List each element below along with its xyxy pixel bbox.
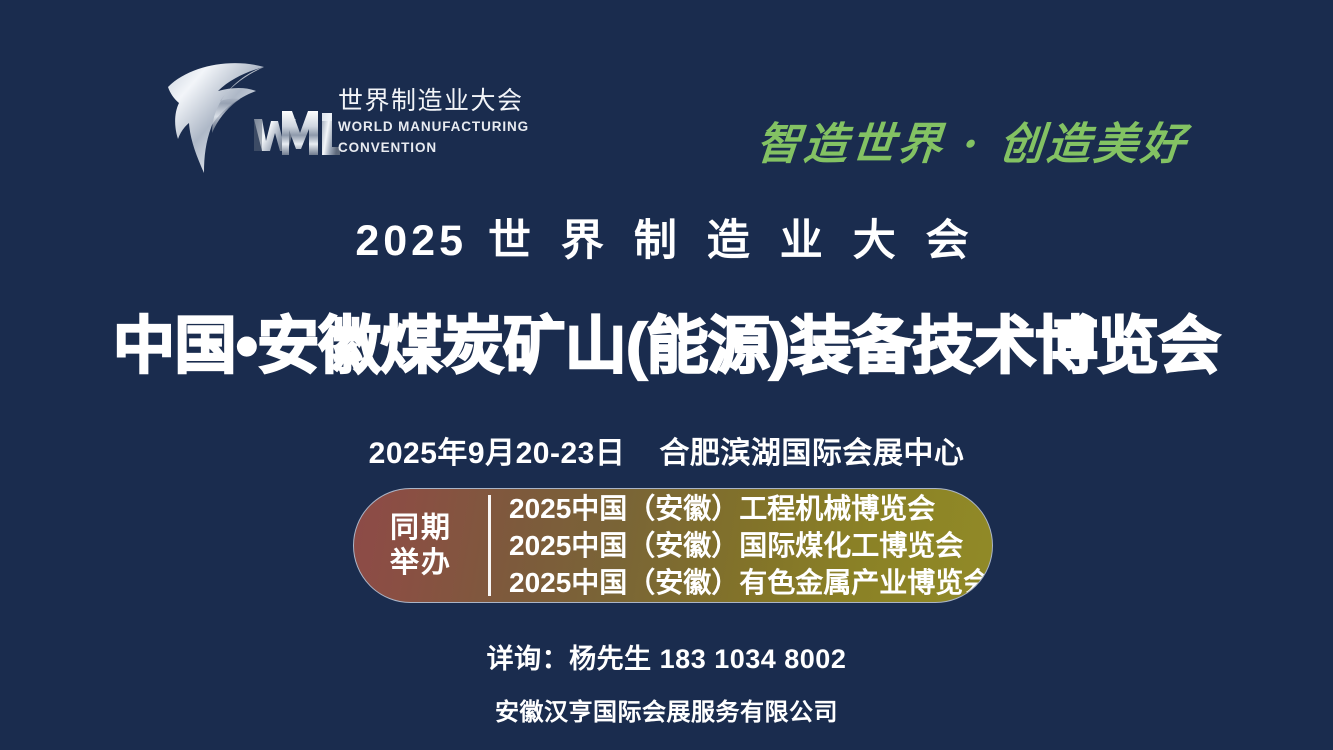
logo-name-en-line1: WORLD MANUFACTURING bbox=[338, 119, 538, 136]
convention-title: 2025 世 界 制 造 业 大 会 bbox=[0, 206, 1333, 268]
concurrent-badge-label: 同期 举办 bbox=[354, 489, 488, 602]
poster-canvas: 世界制造业大会 WORLD MANUFACTURING CONVENTION 智… bbox=[0, 0, 1333, 750]
organizer-company: 安徽汉亨国际会展服务有限公司 bbox=[0, 692, 1333, 727]
list-item: 2025中国（安徽）工程机械博览会 bbox=[509, 490, 992, 527]
date-venue-line: 2025年9月20-23日合肥滨湖国际会展中心 bbox=[0, 428, 1333, 472]
wmc-eagle-mark-icon bbox=[160, 55, 340, 180]
list-item: 2025中国（安徽）国际煤化工博览会 bbox=[509, 527, 992, 564]
event-venue: 合肥滨湖国际会展中心 bbox=[659, 437, 964, 470]
wmc-3d-wordmark bbox=[254, 111, 340, 155]
logo-name-en-line2: CONVENTION bbox=[338, 140, 538, 157]
wmc-logo-text: 世界制造业大会 WORLD MANUFACTURING CONVENTION bbox=[338, 88, 538, 157]
concurrent-events-list: 2025中国（安徽）工程机械博览会 2025中国（安徽）国际煤化工博览会 202… bbox=[491, 489, 992, 602]
expo-headline: 中国•安徽煤炭矿山(能源)装备技术博览会 bbox=[0, 295, 1333, 385]
wmc-logo-lockup: 世界制造业大会 WORLD MANUFACTURING CONVENTION bbox=[160, 55, 540, 185]
event-date: 2025年9月20-23日 bbox=[369, 437, 626, 470]
convention-title-year: 2025 bbox=[355, 217, 467, 265]
list-item: 2025中国（安徽）有色金属产业博览会 bbox=[509, 564, 992, 601]
event-slogan: 智造世界 · 创造美好 bbox=[754, 108, 1191, 172]
concurrent-label-line2: 举办 bbox=[390, 546, 452, 580]
concurrent-label-line1: 同期 bbox=[390, 511, 452, 545]
logo-name-cn: 世界制造业大会 bbox=[338, 88, 538, 115]
concurrent-events-badge: 同期 举办 2025中国（安徽）工程机械博览会 2025中国（安徽）国际煤化工博… bbox=[353, 488, 993, 603]
contact-enquiry: 详询：杨先生 183 1034 8002 bbox=[0, 637, 1333, 676]
convention-title-name: 世 界 制 造 业 大 会 bbox=[488, 217, 978, 265]
badge-vertical-divider bbox=[488, 495, 491, 596]
